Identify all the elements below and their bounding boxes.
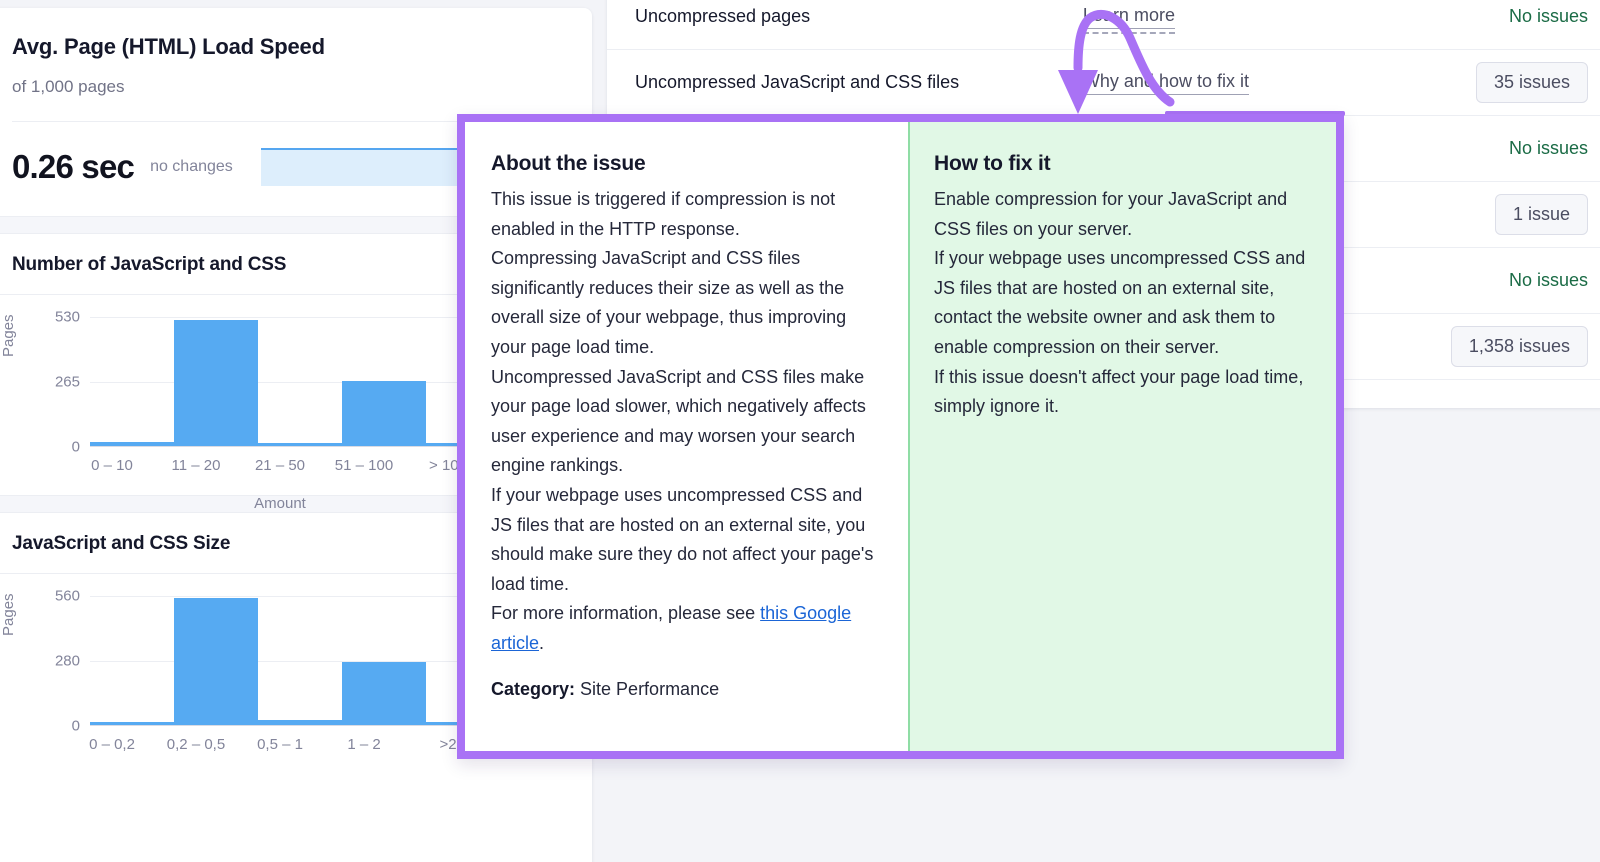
- issue-count-cell: 1 issue: [1397, 194, 1588, 235]
- about-paragraph: Compressing JavaScript and CSS files sig…: [491, 244, 882, 362]
- issue-count-cell: 35 issues: [1397, 62, 1588, 103]
- chart-x-tick: 51 – 100: [322, 457, 406, 474]
- chart-y-axis-label: Pages: [0, 593, 17, 636]
- issue-name: Uncompressed pages: [635, 6, 1083, 27]
- chart-bar: [90, 722, 174, 725]
- issue-count-badge[interactable]: 1,358 issues: [1451, 326, 1588, 367]
- how-to-fix-panel: How to fix it Enable compression for you…: [908, 122, 1336, 751]
- chart-x-tick: 0 – 10: [70, 457, 154, 474]
- issue-detail-popup: About the issue This issue is triggered …: [457, 114, 1344, 759]
- more-info-suffix: .: [539, 633, 544, 653]
- chart-y-axis-label: Pages: [0, 314, 17, 357]
- chart-y-tick: 0: [72, 718, 80, 735]
- fix-heading: How to fix it: [934, 152, 1312, 176]
- no-issues-label: No issues: [1509, 6, 1588, 27]
- load-speed-subtitle: of 1,000 pages: [12, 77, 572, 97]
- chart-x-ticks: 0 – 0,20,2 – 0,50,5 – 11 – 2>2: [70, 736, 490, 753]
- about-paragraph: Uncompressed JavaScript and CSS files ma…: [491, 363, 882, 481]
- chart-y-tick: 0: [72, 439, 80, 456]
- chart-x-tick: 21 – 50: [238, 457, 322, 474]
- chart-x-tick: 1 – 2: [322, 736, 406, 753]
- more-info-prefix: For more information, please see: [491, 603, 760, 623]
- chart-bar: [174, 320, 258, 446]
- chart-y-tick: 265: [55, 374, 80, 391]
- issue-count-badge[interactable]: 35 issues: [1476, 62, 1588, 103]
- chart-x-tick: 11 – 20: [154, 457, 238, 474]
- fix-paragraph: Enable compression for your JavaScript a…: [934, 185, 1312, 244]
- chart-bars: [90, 316, 510, 446]
- about-more-info: For more information, please see this Go…: [491, 599, 882, 658]
- about-paragraph: This issue is triggered if compression i…: [491, 185, 882, 244]
- chart-y-tick: 280: [55, 653, 80, 670]
- chart-y-tick: 560: [55, 588, 80, 605]
- fix-body: Enable compression for your JavaScript a…: [934, 185, 1312, 422]
- no-issues-label: No issues: [1509, 138, 1588, 159]
- load-speed-value: 0.26 sec: [12, 148, 134, 186]
- page-title: Avg. Page (HTML) Load Speed: [12, 34, 572, 60]
- chart-bar: [342, 662, 426, 725]
- annotation-arrow-icon: [1020, 0, 1240, 124]
- chart-x-tick: 0 – 0,2: [70, 736, 154, 753]
- about-heading: About the issue: [491, 152, 882, 176]
- chart-bars: [90, 595, 510, 725]
- category-row: Category: Site Performance: [491, 679, 882, 700]
- about-the-issue-panel: About the issue This issue is triggered …: [465, 122, 908, 751]
- chart-x-tick: 0,2 – 0,5: [154, 736, 238, 753]
- issue-count-cell: No issues: [1397, 270, 1588, 291]
- issue-count-cell: 1,358 issues: [1397, 326, 1588, 367]
- fix-paragraph: If your webpage uses uncompressed CSS an…: [934, 244, 1312, 362]
- no-issues-label: No issues: [1509, 270, 1588, 291]
- chart-x-tick: 0,5 – 1: [238, 736, 322, 753]
- chart-bar: [258, 443, 342, 446]
- chart-bar: [342, 381, 426, 446]
- about-body: This issue is triggered if compression i…: [491, 185, 882, 659]
- chart-bar: [90, 442, 174, 446]
- about-paragraph: If your webpage uses uncompressed CSS an…: [491, 481, 882, 599]
- chart-x-axis-label: Amount: [70, 495, 490, 512]
- load-speed-change: no changes: [150, 158, 233, 176]
- chart-y-tick: 530: [55, 309, 80, 326]
- chart-bar: [258, 720, 342, 725]
- issue-count-cell: No issues: [1397, 6, 1588, 27]
- category-label: Category:: [491, 679, 575, 699]
- category-value: Site Performance: [580, 679, 719, 699]
- fix-paragraph: If this issue doesn't affect your page l…: [934, 363, 1312, 422]
- chart-x-ticks: 0 – 1011 – 2021 – 5051 – 100> 100: [70, 457, 490, 474]
- issue-count-cell: No issues: [1397, 138, 1588, 159]
- chart-bar: [174, 598, 258, 725]
- issue-name: Uncompressed JavaScript and CSS files: [635, 72, 1083, 93]
- issue-count-badge[interactable]: 1 issue: [1495, 194, 1588, 235]
- load-speed-header: Avg. Page (HTML) Load Speed of 1,000 pag…: [0, 8, 592, 122]
- audit-page: Avg. Page (HTML) Load Speed of 1,000 pag…: [0, 0, 1600, 862]
